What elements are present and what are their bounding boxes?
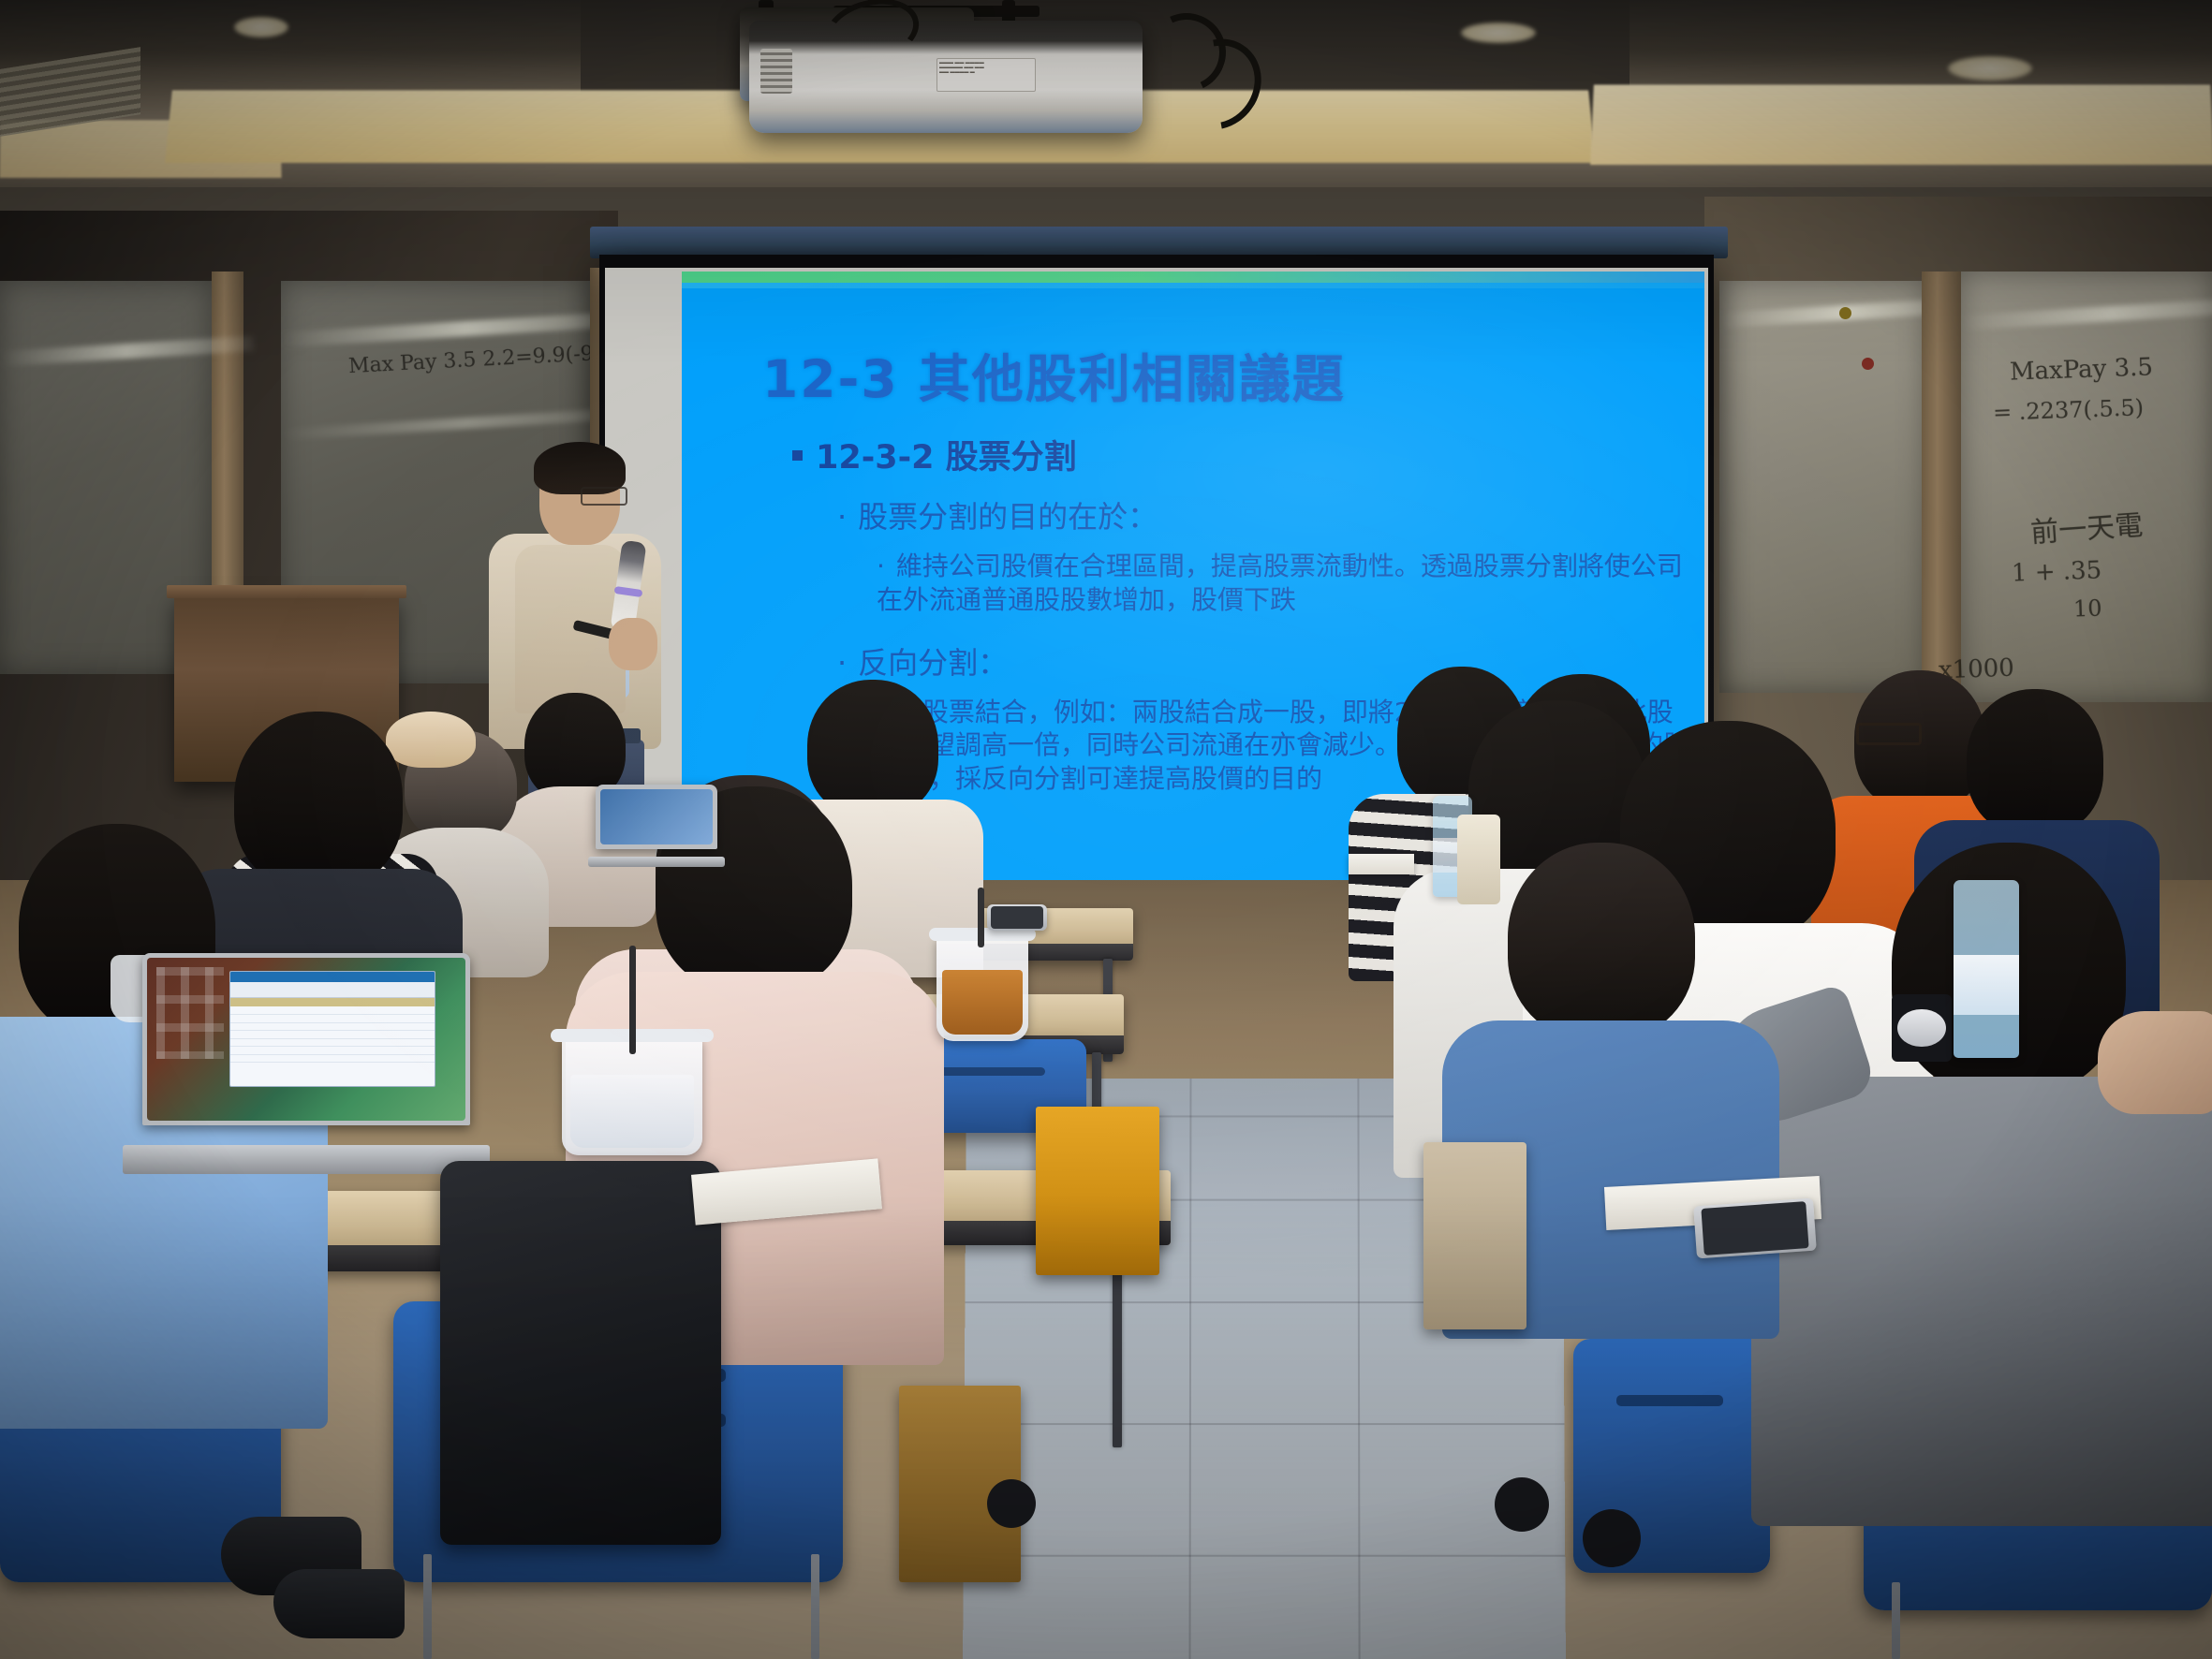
backpack[interactable] xyxy=(440,1161,721,1545)
slide-title: 12-3 其他股利相關議題 xyxy=(762,337,1346,412)
slide-bullet-level3: ·維持公司股價在合理區間，提高股票流動性。透過股票分割將使公司在外流通普通股股數… xyxy=(877,550,1689,617)
thermos xyxy=(1457,815,1500,904)
whiteboard-right-note: 前一天電 xyxy=(2029,502,2145,551)
desk-caster xyxy=(987,1479,1036,1528)
cup-contents xyxy=(570,1075,694,1148)
whiteboard-right-note: 1 + .35 xyxy=(2012,556,2102,587)
laptop-lid xyxy=(596,785,717,849)
projector-vent xyxy=(760,49,792,94)
yellow-paper-bag[interactable] xyxy=(1036,1107,1159,1275)
shoe xyxy=(273,1569,405,1638)
eyeglasses-icon xyxy=(1856,723,1922,745)
desk-caster xyxy=(1583,1509,1641,1567)
bottle-label xyxy=(1954,955,2019,1016)
whiteboard-right-note: = .2237(.5.5) xyxy=(1993,394,2145,426)
smartphone[interactable] xyxy=(987,904,1047,931)
projector-spec-label: ▬▬▬ ▬▬ ▬▬▬▬▬▬▬▬▬ ▬▬ ▬▬▬▬ ▬▬▬▬ ▬ xyxy=(936,58,1036,92)
ceiling-downlight xyxy=(234,17,288,37)
iced-drink-cup[interactable] xyxy=(562,1037,702,1155)
laptop-lid xyxy=(142,953,470,1125)
spreadsheet-row xyxy=(230,1055,435,1064)
slide-accent-band xyxy=(682,272,1704,283)
iced-drink-cup[interactable] xyxy=(936,936,1028,1041)
classroom-photo: ▬▬▬ ▬▬ ▬▬▬▬▬▬▬▬▬ ▬▬ ▬▬▬▬ ▬▬▬▬ ▬ Max Pay … xyxy=(0,0,2212,1659)
whiteboard-right-note: 10 xyxy=(2073,595,2103,622)
screen-housing-bar xyxy=(590,227,1728,258)
desk-caster xyxy=(1495,1477,1549,1532)
spreadsheet-row xyxy=(230,1039,435,1048)
chair-leg xyxy=(423,1554,432,1659)
laptop-base[interactable] xyxy=(588,857,725,867)
straw xyxy=(629,946,636,1054)
spreadsheet-row xyxy=(230,1006,435,1015)
phone-screen xyxy=(1701,1201,1809,1255)
dot-bullet-icon: · xyxy=(877,551,885,581)
handout-papers[interactable] xyxy=(1349,854,1414,874)
wristwatch xyxy=(1892,994,1952,1062)
square-bullet-icon xyxy=(792,450,803,461)
chair-leg xyxy=(1892,1582,1900,1659)
spreadsheet-row xyxy=(230,1047,435,1055)
straw xyxy=(978,888,984,947)
ceiling-downlight xyxy=(1461,22,1536,43)
wood-trim-column xyxy=(1922,272,1961,712)
whiteboard-right-b xyxy=(1961,272,2212,702)
spreadsheet-row xyxy=(230,1023,435,1032)
spreadsheet-ribbon xyxy=(230,982,435,998)
desktop-icons xyxy=(156,967,223,1058)
laptop-screen xyxy=(147,958,465,1121)
storage-box xyxy=(1423,1142,1526,1329)
slide-bullet-level1: 12-3-2 股票分割 xyxy=(792,431,1689,478)
smartphone[interactable] xyxy=(1693,1198,1817,1259)
spreadsheet-titlebar xyxy=(230,972,435,982)
phone-screen xyxy=(991,906,1043,930)
spreadsheet-row xyxy=(230,1031,435,1039)
laptop[interactable] xyxy=(596,785,717,867)
instructor-hand xyxy=(609,618,657,670)
whiteboard-right-a xyxy=(1719,281,1925,693)
chair-leg xyxy=(811,1554,819,1659)
water-bottle[interactable] xyxy=(1954,880,2019,1058)
spreadsheet-row xyxy=(230,1015,435,1023)
ceiling-downlight xyxy=(1948,56,2032,81)
laptop-screen xyxy=(600,789,713,844)
laptop-base[interactable] xyxy=(123,1145,490,1174)
dot-bullet-icon: · xyxy=(837,645,847,681)
slide-bullet-level2: ·股票分割的目的在於： xyxy=(837,493,1689,536)
dot-bullet-icon: · xyxy=(837,499,847,535)
laptop[interactable] xyxy=(142,953,470,1174)
spreadsheet-header-row xyxy=(230,998,435,1007)
whiteboard-right-note: MaxPay 3.5 xyxy=(2010,353,2154,386)
spreadsheet-window xyxy=(229,971,435,1087)
hair-scrunchie xyxy=(386,712,476,768)
slide-accent-band-2 xyxy=(682,283,1704,288)
cup-contents xyxy=(942,970,1023,1035)
ceiling-cove-light-right xyxy=(1590,84,2212,165)
eyeglasses-icon xyxy=(581,487,627,506)
hand xyxy=(2098,1011,2212,1114)
